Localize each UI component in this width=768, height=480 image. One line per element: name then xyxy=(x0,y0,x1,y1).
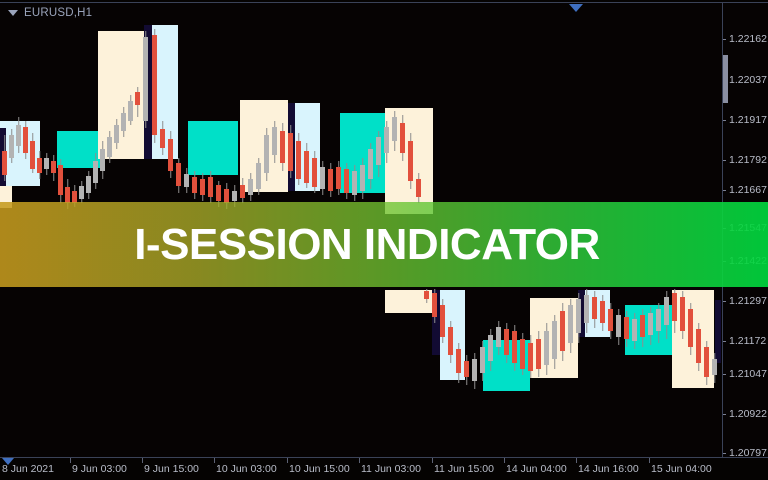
candlestick xyxy=(384,121,389,163)
candlestick xyxy=(704,341,709,385)
candle-body-bearish xyxy=(304,151,309,183)
candle-body-bearish xyxy=(312,158,317,187)
price-axis-tick-label: 1.21667 xyxy=(729,184,767,196)
price-axis-tick: 1.21917 xyxy=(723,114,768,126)
candlestick xyxy=(312,151,317,193)
candlestick xyxy=(600,295,605,331)
time-axis-separator xyxy=(649,458,650,463)
candle-body-bearish xyxy=(440,305,445,337)
candlestick xyxy=(488,329,493,371)
triangle-down-marker-icon[interactable] xyxy=(569,4,583,12)
candle-body-bearish xyxy=(51,161,56,173)
candlestick xyxy=(424,289,429,303)
tick-dash-icon xyxy=(723,120,726,121)
candle-body-bearish xyxy=(37,158,42,173)
tick-dash-icon xyxy=(723,341,726,342)
price-axis-tick-label: 1.21792 xyxy=(729,154,767,166)
price-axis-tick-label: 1.20922 xyxy=(729,408,767,420)
tick-dash-icon xyxy=(723,414,726,415)
candlestick xyxy=(624,311,629,347)
candle-body-bullish xyxy=(256,163,261,189)
candlestick xyxy=(143,31,148,128)
candle-body-bullish xyxy=(16,125,21,146)
candlestick xyxy=(240,178,245,203)
price-axis-tick: 1.21172 xyxy=(723,335,768,347)
candlestick xyxy=(304,143,309,188)
candle-body-bearish xyxy=(624,317,629,339)
candle-body-bullish xyxy=(472,359,477,381)
time-axis-tick-label: 14 Jun 16:00 xyxy=(578,463,639,475)
tick-dash-icon xyxy=(723,39,726,40)
price-axis-tick-label: 1.21917 xyxy=(729,114,767,126)
candle-body-bullish xyxy=(632,319,637,341)
candle-body-bearish xyxy=(672,293,677,321)
candlestick xyxy=(272,121,277,163)
candlestick xyxy=(288,125,293,178)
candlestick xyxy=(400,115,405,161)
candle-body-bearish xyxy=(416,179,421,197)
candlestick xyxy=(568,299,573,353)
time-axis-tick-label: 11 Jun 03:00 xyxy=(361,463,421,475)
candle-body-bullish xyxy=(9,135,14,158)
time-axis-tick-label: 9 Jun 03:00 xyxy=(72,463,127,475)
candle-body-bearish xyxy=(696,329,701,363)
candle-body-bearish xyxy=(688,309,693,347)
candlestick xyxy=(528,335,533,378)
candle-body-bullish xyxy=(107,137,112,157)
candle-body-bullish xyxy=(128,101,133,121)
candlestick xyxy=(536,331,541,377)
candle-body-bearish xyxy=(296,141,301,179)
candle-body-bullish xyxy=(616,315,621,337)
candlestick xyxy=(432,289,437,323)
candle-body-bearish xyxy=(23,127,28,153)
candlestick xyxy=(368,143,373,189)
candle-body-bullish xyxy=(272,127,277,155)
candlestick xyxy=(16,117,21,153)
candlestick xyxy=(440,299,445,343)
candle-body-bullish xyxy=(44,158,49,169)
candlestick xyxy=(408,133,413,189)
candle-body-bearish xyxy=(512,331,517,363)
candle-body-bullish xyxy=(232,191,237,201)
candlestick xyxy=(560,303,565,361)
candlestick xyxy=(51,155,56,181)
candle-body-bullish xyxy=(79,186,84,199)
candle-body-bearish xyxy=(592,297,597,319)
price-axis-tick: 1.22037 xyxy=(723,74,768,86)
candle-body-bearish xyxy=(336,167,341,189)
candle-body-bearish xyxy=(176,163,181,186)
candlestick xyxy=(176,158,181,193)
time-axis-separator xyxy=(432,458,433,463)
candlestick xyxy=(328,163,333,197)
candlestick xyxy=(168,131,173,178)
candle-body-bullish xyxy=(93,161,98,183)
candle-body-bearish xyxy=(30,141,35,169)
candle-body-bearish xyxy=(520,339,525,369)
candle-body-bearish xyxy=(704,347,709,377)
candle-body-bearish xyxy=(192,177,197,193)
price-axis-tick-label: 1.22037 xyxy=(729,74,767,86)
tick-dash-icon xyxy=(723,160,726,161)
candlestick xyxy=(544,323,549,375)
candle-body-bullish xyxy=(368,149,373,179)
candlestick xyxy=(512,325,517,371)
candle-body-bullish xyxy=(480,347,485,373)
candle-body-bullish xyxy=(248,179,253,195)
candle-body-bearish xyxy=(224,189,229,203)
time-axis-separator xyxy=(70,458,71,463)
candle-body-bullish xyxy=(86,176,91,193)
price-axis-tick: 1.21667 xyxy=(723,184,768,196)
candlestick xyxy=(86,171,91,199)
candle-body-bearish xyxy=(640,315,645,337)
candle-body-bearish xyxy=(280,131,285,163)
candlestick xyxy=(392,111,397,151)
candlestick xyxy=(93,153,98,189)
candlestick xyxy=(448,321,453,363)
candle-body-bearish xyxy=(424,291,429,299)
candle-body-bullish xyxy=(584,295,589,323)
candle-body-bearish xyxy=(240,185,245,198)
candlestick xyxy=(256,158,261,195)
candle-body-bullish xyxy=(544,331,549,365)
candle-body-bearish xyxy=(58,165,63,195)
candle-body-bearish xyxy=(328,169,333,191)
candlestick xyxy=(680,291,685,339)
candle-body-bullish xyxy=(352,171,357,195)
candlestick xyxy=(496,321,501,355)
candle-body-bullish xyxy=(100,149,105,171)
candlestick xyxy=(208,171,213,203)
price-axis-tick: 1.21047 xyxy=(723,368,768,380)
candlestick xyxy=(107,131,112,163)
candlestick xyxy=(135,87,140,117)
candle-body-bearish xyxy=(448,327,453,355)
candle-body-bearish xyxy=(135,92,140,105)
time-axis-tick-label: 14 Jun 04:00 xyxy=(506,463,567,475)
time-axis-separator xyxy=(142,458,143,463)
candlestick xyxy=(160,121,165,155)
candle-body-bearish xyxy=(408,141,413,181)
candlestick xyxy=(296,133,301,185)
candle-body-bearish xyxy=(208,177,213,197)
candlestick xyxy=(712,353,717,383)
candle-body-bearish xyxy=(400,123,405,153)
tick-dash-icon xyxy=(723,453,726,454)
candlestick xyxy=(592,291,597,328)
candle-body-bearish xyxy=(152,35,157,135)
candlestick xyxy=(2,135,7,181)
candlestick xyxy=(58,159,63,203)
candle-body-bullish xyxy=(392,117,397,141)
candle-body-bullish xyxy=(360,165,365,191)
time-axis-tick-label: 8 Jun 2021 xyxy=(2,463,54,475)
price-axis-tick: 1.21297 xyxy=(723,295,768,307)
candle-body-bullish xyxy=(143,37,148,121)
candlestick xyxy=(336,161,341,195)
candle-body-bearish xyxy=(288,133,293,171)
candle-body-bullish xyxy=(184,174,189,187)
candlestick xyxy=(192,171,197,199)
candlestick xyxy=(44,153,49,175)
candle-body-bullish xyxy=(648,313,653,335)
candle-body-bearish xyxy=(528,343,533,371)
candlestick xyxy=(152,29,157,143)
candle-body-bullish xyxy=(576,299,581,333)
candlestick xyxy=(552,315,557,369)
candle-body-bullish xyxy=(121,113,126,131)
candle-body-bullish xyxy=(496,327,501,347)
candlestick xyxy=(200,173,205,201)
time-axis-separator xyxy=(504,458,505,463)
candlestick xyxy=(456,343,461,383)
candlestick xyxy=(640,309,645,347)
candlestick xyxy=(30,133,35,173)
candle-body-bearish xyxy=(160,129,165,148)
candle-body-bearish xyxy=(432,293,437,317)
time-axis-tick-label: 11 Jun 15:00 xyxy=(434,463,494,475)
candle-body-bearish xyxy=(536,339,541,369)
candlestick xyxy=(37,151,42,179)
tick-dash-icon xyxy=(723,301,726,302)
price-axis-tick: 1.22162 xyxy=(723,33,768,45)
candlestick xyxy=(696,323,701,371)
candle-body-bullish xyxy=(376,137,381,165)
candlestick xyxy=(480,341,485,381)
candle-body-bearish xyxy=(65,187,70,203)
time-axis-tick-label: 10 Jun 15:00 xyxy=(289,463,350,475)
candlestick xyxy=(504,323,509,363)
price-axis-tick-label: 1.22162 xyxy=(729,33,767,45)
candlestick xyxy=(121,107,126,137)
candle-body-bullish xyxy=(656,309,661,331)
price-axis-tick: 1.21792 xyxy=(723,154,768,166)
candlestick xyxy=(648,307,653,345)
candle-body-bearish xyxy=(504,329,509,355)
chart-window: EURUSD,H1 1.221621.220371.219171.217921.… xyxy=(0,0,768,480)
candlestick xyxy=(264,128,269,181)
candle-body-bearish xyxy=(216,185,221,201)
time-axis-separator xyxy=(214,458,215,463)
candlestick xyxy=(114,119,119,149)
candlestick xyxy=(376,131,381,177)
candlestick xyxy=(576,293,581,343)
candle-body-bearish xyxy=(464,361,469,377)
price-axis-tick-label: 1.21047 xyxy=(729,368,767,380)
candlestick xyxy=(664,291,669,339)
candlestick xyxy=(184,168,189,193)
candle-body-bullish xyxy=(552,321,557,359)
candlestick xyxy=(360,158,365,199)
candlestick xyxy=(79,181,84,203)
candle-body-bearish xyxy=(560,311,565,351)
price-axis-tick-label: 1.21172 xyxy=(729,335,766,347)
promo-banner-title: I-SESSION INDICATOR xyxy=(134,223,634,267)
candle-body-bullish xyxy=(568,305,573,343)
price-axis-tick: 1.20922 xyxy=(723,408,768,420)
time-axis[interactable]: 8 Jun 20219 Jun 03:009 Jun 15:0010 Jun 0… xyxy=(0,458,768,480)
candlestick xyxy=(352,165,357,201)
candlestick xyxy=(23,121,28,159)
candlestick xyxy=(608,303,613,339)
candlestick xyxy=(656,303,661,343)
candle-body-bullish xyxy=(488,335,493,361)
candle-body-bearish xyxy=(680,297,685,331)
time-axis-separator xyxy=(359,458,360,463)
tick-dash-icon xyxy=(723,374,726,375)
candle-body-bearish xyxy=(168,139,173,171)
time-axis-tick-label: 9 Jun 15:00 xyxy=(144,463,199,475)
candlestick xyxy=(128,95,133,125)
candlestick xyxy=(100,141,105,179)
candlestick xyxy=(672,289,677,333)
candlestick xyxy=(688,303,693,355)
candle-body-bearish xyxy=(600,301,605,323)
candlestick xyxy=(520,333,525,375)
candlestick xyxy=(320,161,325,195)
candle-body-bullish xyxy=(712,359,717,375)
price-axis-tick-label: 1.21297 xyxy=(729,295,767,307)
candle-body-bullish xyxy=(384,127,389,153)
candlestick xyxy=(464,355,469,385)
candle-body-bearish xyxy=(344,169,349,193)
candle-body-bullish xyxy=(264,135,269,173)
candlestick xyxy=(632,313,637,349)
candlestick xyxy=(9,129,14,163)
candle-body-bearish xyxy=(2,151,7,175)
candle-body-bearish xyxy=(456,349,461,373)
candle-body-bearish xyxy=(200,179,205,195)
candlestick xyxy=(416,173,421,203)
time-axis-tick-label: 15 Jun 04:00 xyxy=(651,463,712,475)
tick-dash-icon xyxy=(723,190,726,191)
time-axis-separator xyxy=(576,458,577,463)
candle-body-bullish xyxy=(664,297,669,325)
candle-body-bearish xyxy=(608,309,613,331)
price-axis-scroll-thumb[interactable] xyxy=(723,55,728,103)
time-axis-tick-label: 10 Jun 03:00 xyxy=(216,463,277,475)
candlestick xyxy=(472,353,477,389)
promo-banner: I-SESSION INDICATOR xyxy=(0,202,768,287)
session-box-pacific xyxy=(188,121,238,175)
candlestick xyxy=(248,173,253,201)
candlestick xyxy=(616,309,621,345)
candlestick xyxy=(584,289,589,333)
candlestick xyxy=(280,123,285,171)
candlestick xyxy=(344,163,349,199)
candle-body-bullish xyxy=(114,125,119,143)
candle-body-bullish xyxy=(320,167,325,189)
time-axis-separator xyxy=(287,458,288,463)
